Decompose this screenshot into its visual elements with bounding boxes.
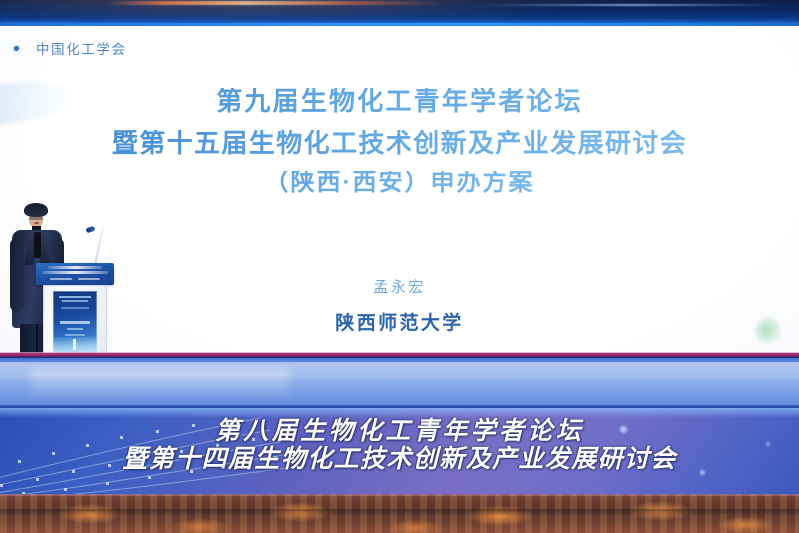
slide-title-block: 第九届生物化工青年学者论坛 暨第十五届生物化工技术创新及产业发展研讨会 （陕西·… bbox=[0, 88, 799, 195]
speaker-hair bbox=[24, 203, 48, 217]
society-name: 中国化工学会 bbox=[36, 38, 127, 58]
podium-sign-textline bbox=[50, 278, 72, 280]
panel-textline bbox=[67, 328, 83, 330]
presenter-affiliation: 陕西师范大学 bbox=[0, 308, 799, 335]
speaker-turtleneck bbox=[34, 232, 41, 258]
ceiling-light-streak bbox=[480, 4, 780, 6]
speaker-arm-left bbox=[10, 238, 24, 312]
panel-textline bbox=[65, 334, 85, 336]
dot-bullet-icon bbox=[14, 46, 19, 51]
podium-sign-textline bbox=[42, 271, 108, 274]
glasses-icon bbox=[29, 217, 43, 220]
hall-carpet bbox=[0, 494, 799, 533]
slide-title-line3: （陕西·西安）申办方案 bbox=[0, 171, 799, 195]
presenter-name: 孟永宏 bbox=[0, 276, 799, 297]
stage-banner: 第八届生物化工青年学者论坛 暨第十四届生物化工技术创新及产业发展研讨会 bbox=[0, 408, 799, 494]
panel-textline bbox=[62, 300, 88, 302]
podium-sign bbox=[36, 263, 114, 285]
banner-text-block: 第八届生物化工青年学者论坛 暨第十四届生物化工技术创新及产业发展研讨会 bbox=[0, 417, 799, 473]
stage-floor bbox=[0, 358, 799, 408]
slide-title-line2: 暨第十五届生物化工技术创新及产业发展研讨会 bbox=[0, 130, 799, 156]
podium-sign-textline bbox=[48, 266, 102, 269]
slide-presenter-block: 孟永宏 陕西师范大学 bbox=[0, 276, 799, 335]
podium-sign-textline bbox=[78, 278, 100, 280]
panel-textline bbox=[59, 296, 91, 298]
panel-textline bbox=[61, 307, 89, 309]
panel-tower-graphic bbox=[73, 339, 76, 350]
banner-line1: 第八届生物化工青年学者论坛 bbox=[0, 417, 799, 445]
carpet-shadow-band bbox=[0, 509, 799, 516]
conference-photo: 中国化工学会 第九届生物化工青年学者论坛 暨第十五届生物化工技术创新及产业发展研… bbox=[0, 0, 799, 533]
speaker-mouth bbox=[34, 222, 39, 224]
podium-front-panel bbox=[53, 291, 97, 353]
society-logo: 中国化工学会 bbox=[14, 38, 127, 58]
ceiling-light-streak bbox=[105, 1, 445, 5]
panel-textline bbox=[60, 321, 90, 324]
slide-title-line1: 第九届生物化工青年学者论坛 bbox=[0, 88, 799, 114]
banner-line2: 暨第十四届生物化工技术创新及产业发展研讨会 bbox=[0, 445, 799, 473]
hall-ceiling bbox=[0, 0, 799, 26]
projected-slide: 中国化工学会 第九届生物化工青年学者论坛 暨第十五届生物化工技术创新及产业发展研… bbox=[0, 26, 799, 356]
floor-reflection bbox=[30, 368, 290, 402]
